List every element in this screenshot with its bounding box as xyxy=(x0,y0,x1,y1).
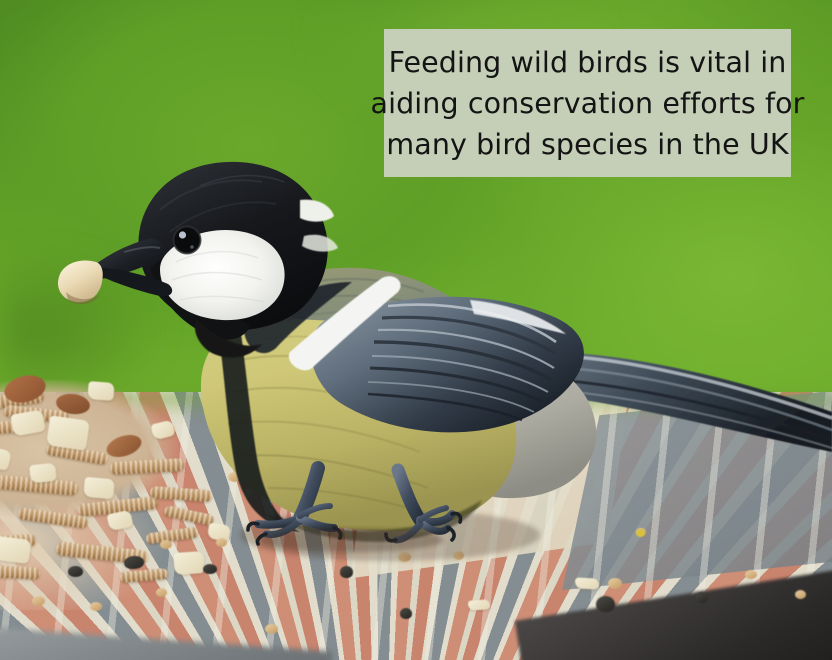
caption-line-1: Feeding wild birds is vital in xyxy=(389,42,787,83)
bird-nape-spot xyxy=(300,200,334,222)
caption-line-2: aiding conservation efforts for xyxy=(371,83,805,124)
caption-overlay: Feeding wild birds is vital in aiding co… xyxy=(384,29,791,177)
feet-shadow xyxy=(260,528,444,552)
suet-pellet-in-beak[interactable] xyxy=(58,261,103,303)
bird-eye-highlight-2 xyxy=(190,245,194,249)
bird-eye-highlight xyxy=(179,231,186,238)
caption-line-3: many bird species in the UK xyxy=(386,124,788,165)
image-canvas: Feeding wild birds is vital in aiding co… xyxy=(0,0,832,660)
